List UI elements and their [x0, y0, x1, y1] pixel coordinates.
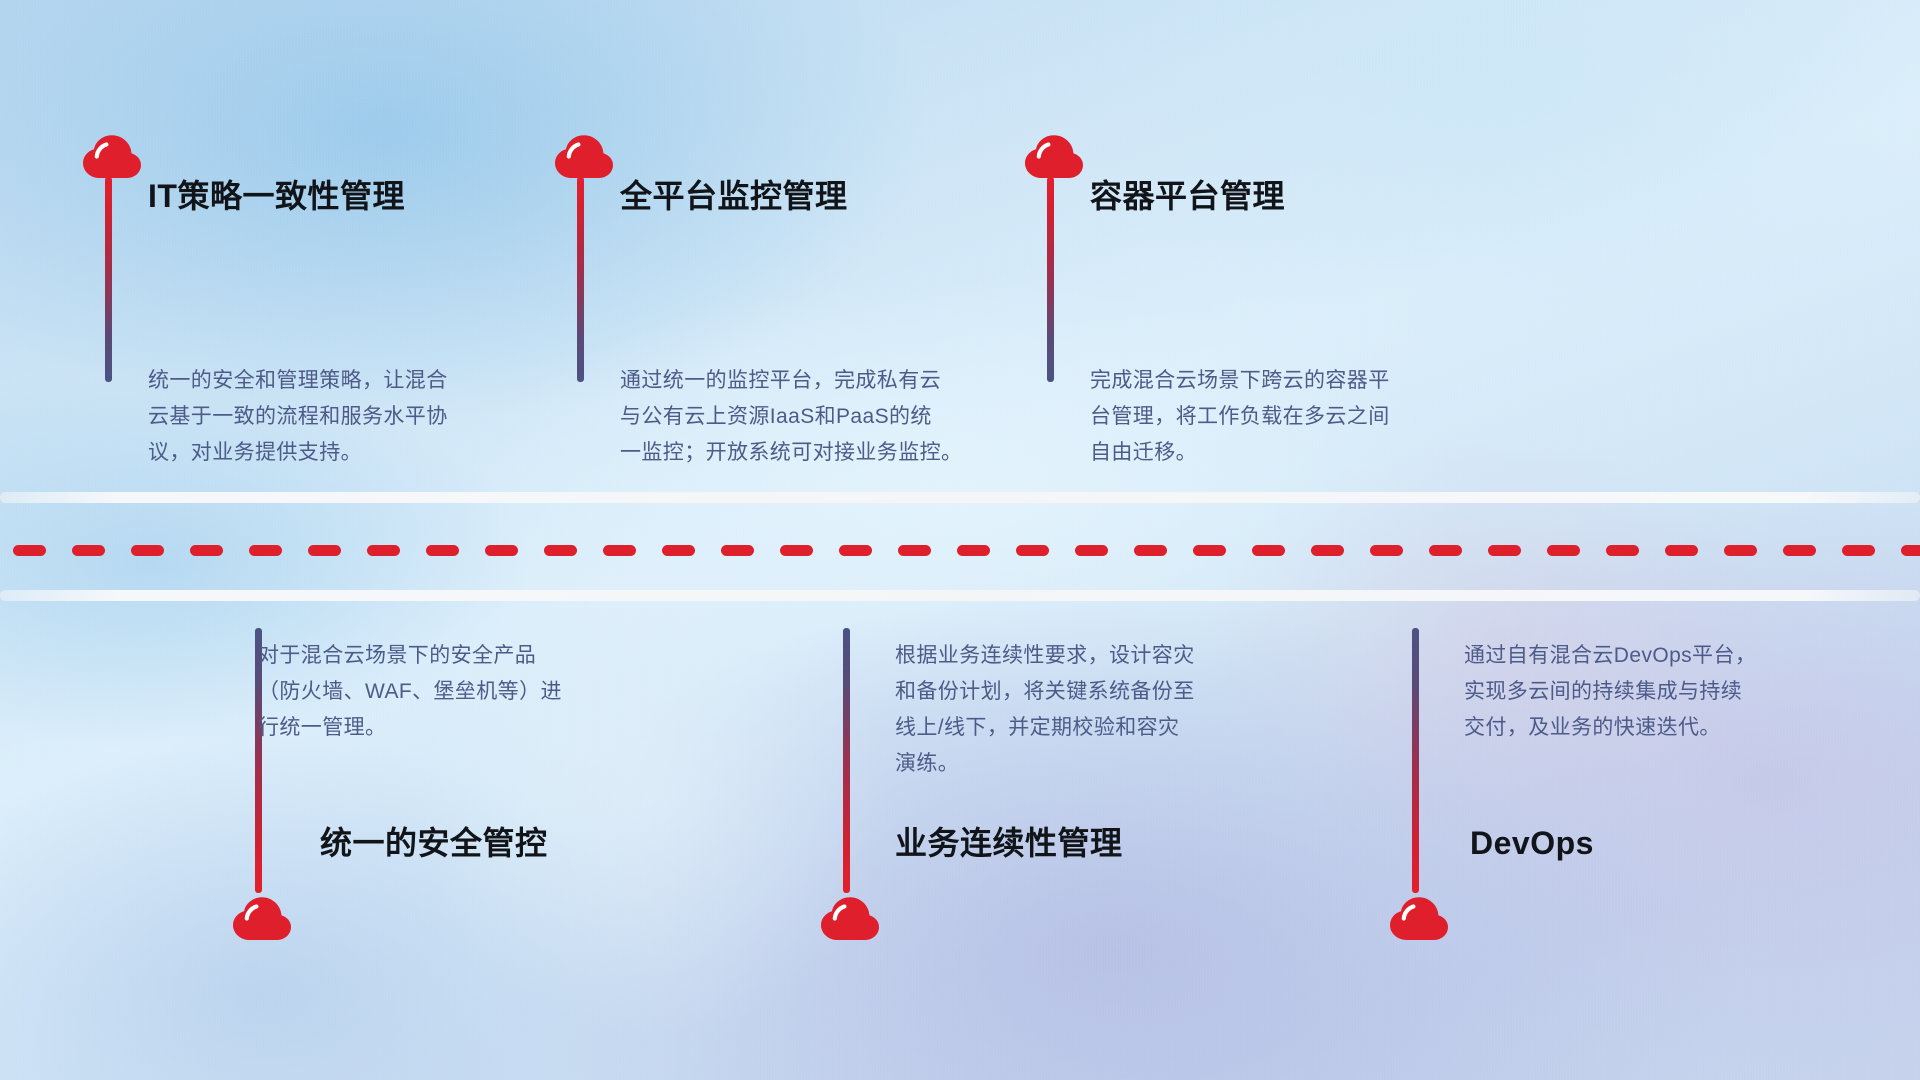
road-dash [1724, 545, 1757, 556]
card-body-line: 完成混合云场景下跨云的容器平 [1090, 363, 1510, 399]
road-dash [1429, 545, 1462, 556]
road-dash [485, 545, 518, 556]
road-dash [662, 545, 695, 556]
card-body-line: 交付，及业务的快速迭代。 [1464, 710, 1884, 746]
road-dash [308, 545, 341, 556]
card-body-line: 根据业务连续性要求，设计容灾 [895, 638, 1335, 674]
road-edge-top [0, 492, 1920, 503]
card-body-line: 和备份计划，将关键系统备份至 [895, 674, 1335, 710]
road-edge-bottom [0, 590, 1920, 601]
road-dash [1311, 545, 1344, 556]
road-dash [1606, 545, 1639, 556]
connector-line [843, 628, 850, 893]
card-body-line: 台管理，将工作负载在多云之间 [1090, 399, 1510, 435]
card-body-line: 线上/线下，并定期校验和容灾 [895, 710, 1335, 746]
road-dash [72, 545, 105, 556]
card-body-line: 云基于一致的流程和服务水平协 [148, 399, 568, 435]
road-dash [1075, 545, 1108, 556]
connector-line [1412, 628, 1419, 893]
card-title: 统一的安全管控 [320, 827, 548, 859]
card-body: 统一的安全和管理策略，让混合 云基于一致的流程和服务水平协 议，对业务提供支持。 [148, 363, 568, 471]
road-dash [1134, 545, 1167, 556]
cloud-icon [229, 893, 293, 941]
card-body: 根据业务连续性要求，设计容灾 和备份计划，将关键系统备份至 线上/线下，并定期校… [895, 638, 1335, 782]
card-title: 容器平台管理 [1090, 180, 1285, 212]
road-dash [603, 545, 636, 556]
road-dash [780, 545, 813, 556]
card-body-line: 自由迁移。 [1090, 435, 1510, 471]
card-title: IT策略一致性管理 [148, 180, 405, 212]
road-dash [13, 545, 46, 556]
card-body-line: （防火墙、WAF、堡垒机等）进 [258, 674, 688, 710]
road-dash [1842, 545, 1875, 556]
card-body-line: 统一的安全和管理策略，让混合 [148, 363, 568, 399]
cloud-icon [1021, 131, 1085, 179]
card-body-line: 行统一管理。 [258, 710, 688, 746]
card-body: 通过自有混合云DevOps平台， 实现多云间的持续集成与持续 交付，及业务的快速… [1464, 638, 1884, 746]
cloud-icon [551, 131, 615, 179]
road-dash [1665, 545, 1698, 556]
road-dash [131, 545, 164, 556]
road-dash [957, 545, 990, 556]
road-dash [1783, 545, 1816, 556]
card-title: 业务连续性管理 [895, 827, 1123, 859]
road-dash [1370, 545, 1403, 556]
road-dash [898, 545, 931, 556]
road-dash [1488, 545, 1521, 556]
cloud-icon [1386, 893, 1450, 941]
road-dash [1901, 545, 1920, 556]
card-body-line: 通过自有混合云DevOps平台， [1464, 638, 1884, 674]
card-body-line: 议，对业务提供支持。 [148, 435, 568, 471]
card-body-line: 实现多云间的持续集成与持续 [1464, 674, 1884, 710]
card-body-line: 与公有云上资源IaaS和PaaS的统 [620, 399, 1060, 435]
road-dash [1193, 545, 1226, 556]
road-dash [544, 545, 577, 556]
card-body-line: 一监控；开放系统可对接业务监控。 [620, 435, 1060, 471]
road-dash [1252, 545, 1285, 556]
card-body-line: 通过统一的监控平台，完成私有云 [620, 363, 1060, 399]
cloud-icon [817, 893, 881, 941]
road-dashed-line [0, 545, 1920, 557]
infographic-canvas: IT策略一致性管理 统一的安全和管理策略，让混合 云基于一致的流程和服务水平协 … [0, 0, 1920, 1080]
card-title: DevOps [1470, 827, 1594, 859]
road-dash [1547, 545, 1580, 556]
connector-line [105, 177, 112, 382]
road-dash [190, 545, 223, 556]
road-dash [839, 545, 872, 556]
connector-line [1047, 177, 1054, 382]
road-dash [249, 545, 282, 556]
card-title: 全平台监控管理 [620, 180, 848, 212]
road-dash [721, 545, 754, 556]
card-body-line: 演练。 [895, 746, 1335, 782]
cloud-icon [79, 131, 143, 179]
road-dash [367, 545, 400, 556]
road-dash [1016, 545, 1049, 556]
card-body: 对于混合云场景下的安全产品 （防火墙、WAF、堡垒机等）进 行统一管理。 [258, 638, 688, 746]
card-body-line: 对于混合云场景下的安全产品 [258, 638, 688, 674]
card-body: 通过统一的监控平台，完成私有云 与公有云上资源IaaS和PaaS的统 一监控；开… [620, 363, 1060, 471]
connector-line [577, 177, 584, 382]
card-body: 完成混合云场景下跨云的容器平 台管理，将工作负载在多云之间 自由迁移。 [1090, 363, 1510, 471]
road-dash [426, 545, 459, 556]
